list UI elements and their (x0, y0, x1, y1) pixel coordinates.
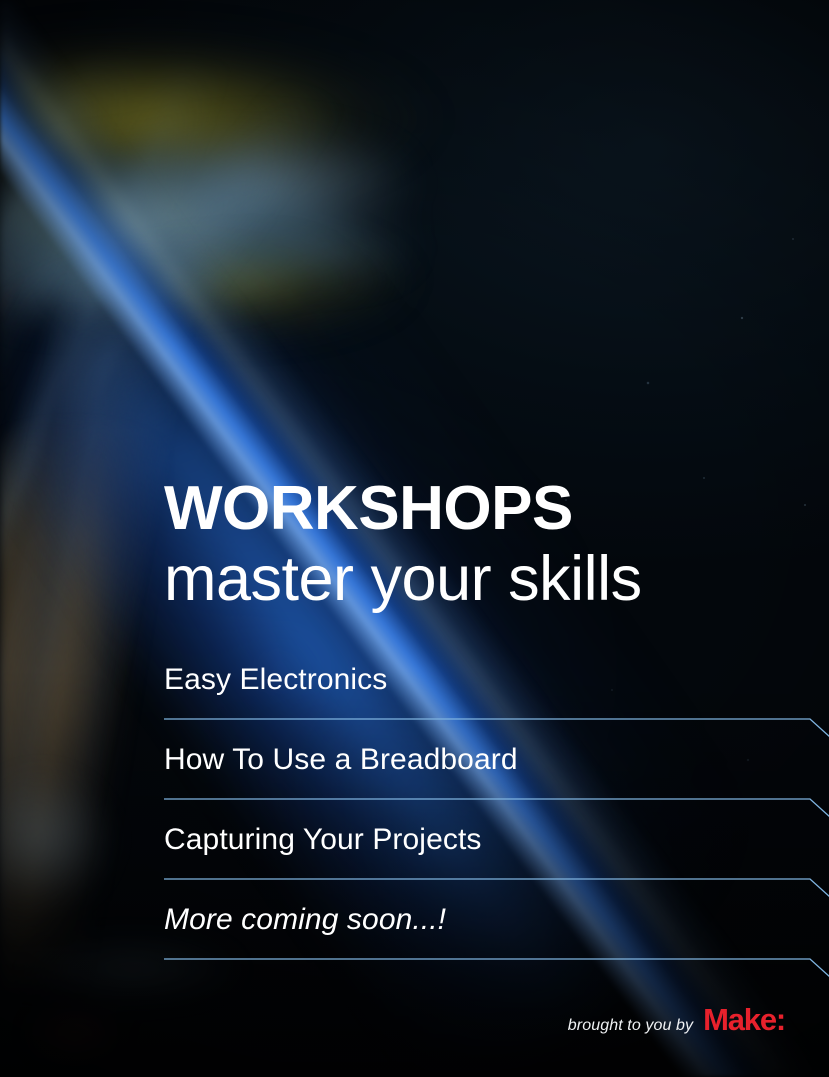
course-title: Easy Electronics (164, 663, 387, 697)
list-item[interactable]: Easy Electronics (164, 657, 810, 737)
footer-attribution: brought to you by Make: (568, 1004, 785, 1035)
make-logo[interactable]: Make: (703, 1004, 785, 1035)
course-title: More coming soon...! (164, 903, 446, 937)
workshop-course-list: Easy Electronics How To Use a Breadboard… (164, 657, 810, 977)
list-item: More coming soon...! (164, 897, 810, 977)
divider-line (164, 955, 810, 977)
divider-line (164, 875, 810, 897)
page-title: WORKSHOPS (164, 478, 642, 540)
divider-line (164, 795, 810, 817)
list-item[interactable]: How To Use a Breadboard (164, 737, 810, 817)
list-item[interactable]: Capturing Your Projects (164, 817, 810, 897)
poster-content: WORKSHOPS master your skills Easy Electr… (0, 0, 829, 1077)
divider-line (164, 715, 810, 737)
course-title: Capturing Your Projects (164, 823, 482, 857)
course-title: How To Use a Breadboard (164, 743, 518, 777)
workshops-promo-poster: WORKSHOPS master your skills Easy Electr… (0, 0, 829, 1077)
credit-text: brought to you by (568, 1017, 693, 1035)
page-subtitle: master your skills (164, 546, 642, 612)
headline-block: WORKSHOPS master your skills (164, 478, 642, 612)
